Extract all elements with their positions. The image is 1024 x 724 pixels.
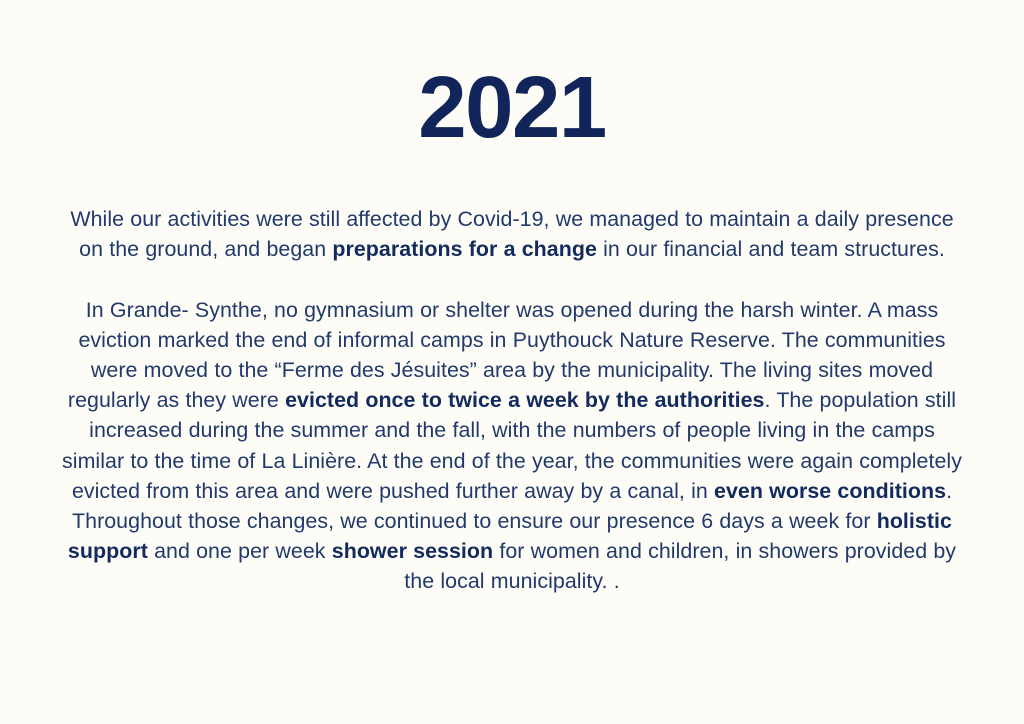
emphasis-text: shower session <box>332 539 493 563</box>
paragraph-grande-synthe: In Grande- Synthe, no gymnasium or shelt… <box>62 295 962 597</box>
page-title: 2021 <box>0 58 1024 158</box>
emphasis-text: preparations for a change <box>332 237 597 261</box>
annual-report-year-page: 2021 While our activities were still aff… <box>0 0 1024 724</box>
body-text: and one per week <box>148 539 332 563</box>
paragraph-intro: While our activities were still affected… <box>62 204 962 264</box>
emphasis-text: evicted once to twice a week by the auth… <box>285 388 764 412</box>
body-text: in our financial and team structures. <box>597 237 945 261</box>
emphasis-text: even worse conditions <box>714 479 946 503</box>
report-body: While our activities were still affected… <box>62 204 962 597</box>
